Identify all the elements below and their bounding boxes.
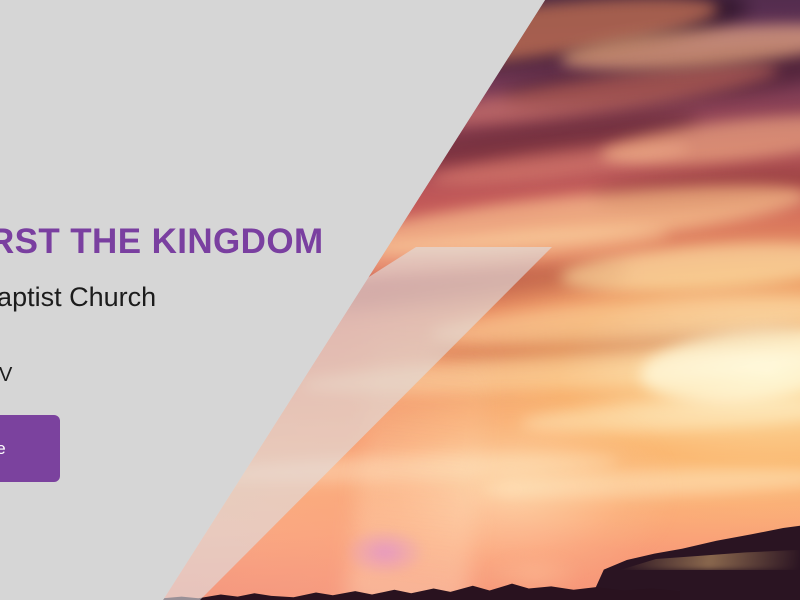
church-name: New Faith Baptist Church (0, 282, 156, 314)
page-title: SEEK FIRST THE KINGDOM (0, 224, 324, 259)
verse-reference: Matthew 6:33 KJV (0, 364, 12, 387)
banner-content: SEEK FIRST THE KINGDOM New Faith Baptist… (0, 0, 370, 600)
watch-online-button[interactable]: Watch Online (0, 415, 60, 482)
hero-banner: SEEK FIRST THE KINGDOM New Faith Baptist… (0, 0, 800, 600)
